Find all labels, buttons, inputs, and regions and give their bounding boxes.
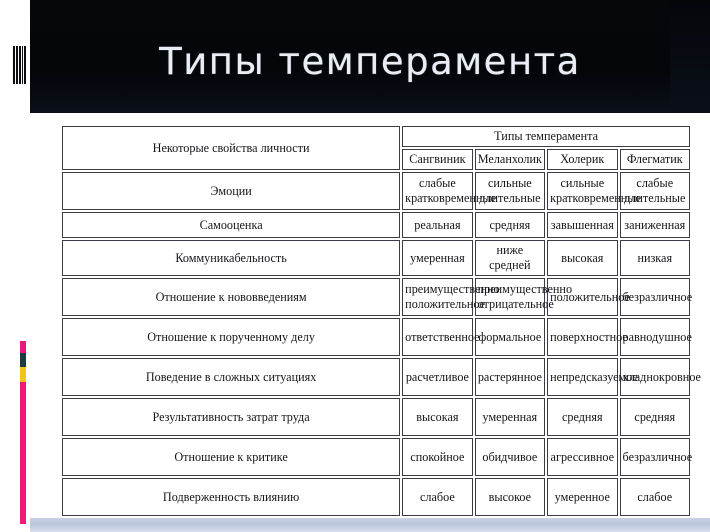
header-cell-properties: Некоторые свойства личности xyxy=(62,126,400,170)
row-property-label: Результативность затрат труда xyxy=(62,398,400,436)
row-value-melancholic: умеренная xyxy=(475,398,545,436)
row-value-melancholic: средняя xyxy=(475,212,545,238)
barcode-icon xyxy=(12,46,26,84)
row-value-melancholic: ниже средней xyxy=(475,240,545,276)
table-row: Отношение к критике спокойное обидчивое … xyxy=(62,438,690,476)
row-value-choleric: сильные кратковременные xyxy=(547,172,617,210)
table-header-row: Некоторые свойства личности Типы темпера… xyxy=(62,126,690,147)
accent-segment-teal xyxy=(20,353,26,367)
row-property-label: Отношение к критике xyxy=(62,438,400,476)
row-value-phlegmatic: слабые длительные xyxy=(620,172,690,210)
temperament-table-wrapper: Некоторые свойства личности Типы темпера… xyxy=(60,124,692,518)
content-panel-footer-strip xyxy=(30,518,710,532)
row-value-phlegmatic: безразличное xyxy=(620,438,690,476)
row-value-phlegmatic: средняя xyxy=(620,398,690,436)
row-value-sanguine: умеренная xyxy=(402,240,472,276)
row-property-label: Поведение в сложных ситуациях xyxy=(62,358,400,396)
table-row: Отношение к порученному делу ответственн… xyxy=(62,318,690,356)
row-value-choleric: поверхностное xyxy=(547,318,617,356)
page-title: Типы темперамента xyxy=(30,38,710,86)
temperament-table: Некоторые свойства личности Типы темпера… xyxy=(60,124,692,518)
row-value-choleric: высокая xyxy=(547,240,617,276)
row-value-melancholic: сильные длительные xyxy=(475,172,545,210)
row-value-sanguine: спокойное xyxy=(402,438,472,476)
row-value-phlegmatic: равнодушное xyxy=(620,318,690,356)
row-value-sanguine: слабое xyxy=(402,478,472,516)
table-row: Результативность затрат труда высокая ум… xyxy=(62,398,690,436)
row-value-phlegmatic: низкая xyxy=(620,240,690,276)
row-value-choleric: агрессивное xyxy=(547,438,617,476)
header-cell-type-sanguine: Сангвиник xyxy=(402,149,472,170)
header-cell-group: Типы темперамента xyxy=(402,126,690,147)
slide-canvas: Типы темперамента Некоторые свойства лич… xyxy=(0,0,710,532)
row-value-sanguine: реальная xyxy=(402,212,472,238)
table-row: Поведение в сложных ситуациях расчетливо… xyxy=(62,358,690,396)
row-value-sanguine: слабые кратковременные xyxy=(402,172,472,210)
row-value-phlegmatic: безразличное xyxy=(620,278,690,316)
table-row: Эмоции слабые кратковременные сильные дл… xyxy=(62,172,690,210)
row-property-label: Эмоции xyxy=(62,172,400,210)
table-row: Самооценка реальная средняя завышенная з… xyxy=(62,212,690,238)
row-value-choleric: непредсказуемое xyxy=(547,358,617,396)
table-row: Коммуникабельность умеренная ниже средне… xyxy=(62,240,690,276)
row-value-choleric: умеренное xyxy=(547,478,617,516)
row-property-label: Отношение к нововведениям xyxy=(62,278,400,316)
row-value-phlegmatic: хладнокровное xyxy=(620,358,690,396)
header-cell-type-melancholic: Меланхолик xyxy=(475,149,545,170)
accent-segment-pink-top xyxy=(20,341,26,353)
row-value-melancholic: формальное xyxy=(475,318,545,356)
row-value-choleric: завышенная xyxy=(547,212,617,238)
row-property-label: Подверженность влиянию xyxy=(62,478,400,516)
row-value-melancholic: преимущественно отрицательное xyxy=(475,278,545,316)
row-value-melancholic: обидчивое xyxy=(475,438,545,476)
row-property-label: Коммуникабельность xyxy=(62,240,400,276)
table-row: Подверженность влиянию слабое высокое ум… xyxy=(62,478,690,516)
row-value-choleric: средняя xyxy=(547,398,617,436)
accent-segment-yellow xyxy=(20,367,26,382)
header-cell-type-phlegmatic: Флегматик xyxy=(620,149,690,170)
accent-segment-pink-long xyxy=(20,382,26,524)
row-value-sanguine: преимущественно положительное xyxy=(402,278,472,316)
row-value-melancholic: высокое xyxy=(475,478,545,516)
row-value-sanguine: расчетливое xyxy=(402,358,472,396)
header-cell-type-choleric: Холерик xyxy=(547,149,617,170)
row-value-phlegmatic: заниженная xyxy=(620,212,690,238)
row-property-label: Отношение к порученному делу xyxy=(62,318,400,356)
row-value-melancholic: растерянное xyxy=(475,358,545,396)
row-property-label: Самооценка xyxy=(62,212,400,238)
row-value-sanguine: высокая xyxy=(402,398,472,436)
table-row: Отношение к нововведениям преимущественн… xyxy=(62,278,690,316)
row-value-sanguine: ответственное xyxy=(402,318,472,356)
row-value-phlegmatic: слабое xyxy=(620,478,690,516)
